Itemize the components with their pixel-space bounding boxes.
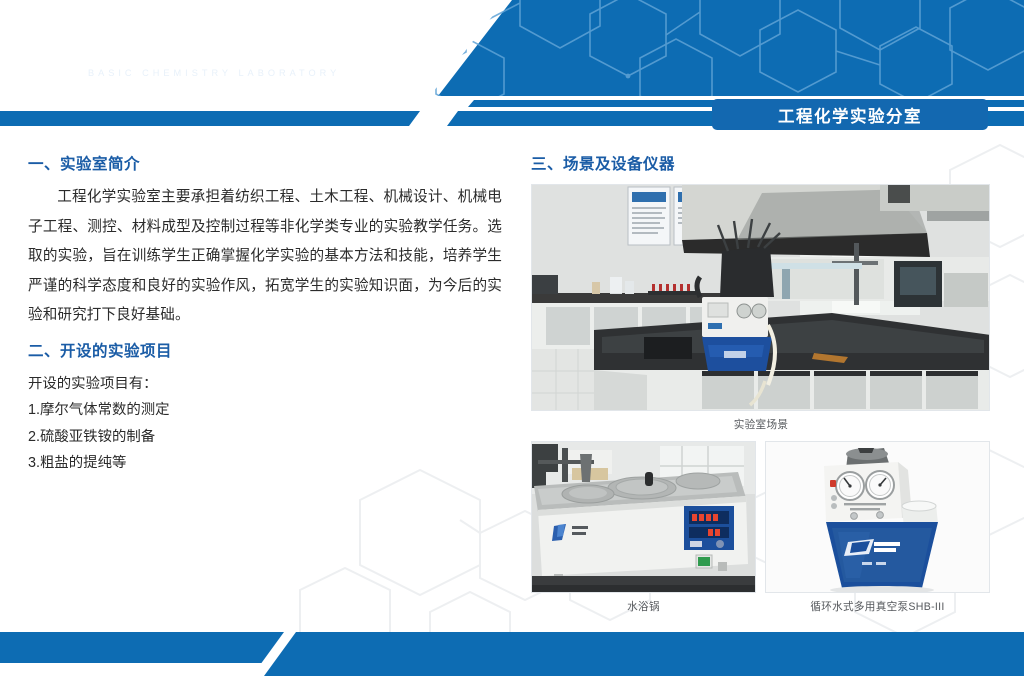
vacuum-pump-photo[interactable]: [765, 441, 990, 593]
photo-block-lab-scene: 实验室场景: [531, 184, 991, 432]
laboratory-scene-photo[interactable]: [531, 184, 990, 411]
page-subtitle: BASIC CHEMISTRY LABORATORY: [88, 68, 361, 78]
page-title: 基础化学实验室: [88, 22, 361, 67]
photo-block-vacuum-pump: 循环水式多用真空泵SHB-III: [765, 441, 990, 614]
section-heading-intro: 一、实验室简介: [28, 152, 502, 174]
projects-intro-text: 开设的实验项目有：: [28, 371, 502, 398]
project-list-item: 3.粗盐的提纯等: [28, 450, 502, 477]
sub-lab-badge-label: 工程化学实验分室: [778, 103, 922, 127]
right-content-column: 三、场景及设备仪器: [531, 152, 991, 614]
section-heading-projects: 二、开设的实验项目: [28, 339, 502, 361]
project-list-item: 2.硫酸亚铁铵的制备: [28, 424, 502, 451]
poster-page: 基础化学实验室 BASIC CHEMISTRY LABORATORY 工程化学实…: [0, 0, 1024, 676]
sub-lab-badge[interactable]: 工程化学实验分室: [712, 99, 988, 130]
water-bath-photo[interactable]: [531, 441, 756, 593]
photo-block-water-bath: 水浴锅: [531, 441, 756, 614]
photo-caption-water-bath: 水浴锅: [531, 599, 756, 614]
header-title-block: 基础化学实验室 BASIC CHEMISTRY LABORATORY: [88, 22, 361, 78]
section-heading-scenes: 三、场景及设备仪器: [531, 152, 991, 174]
photo-row: 水浴锅: [531, 441, 991, 614]
photo-caption-lab-scene: 实验室场景: [531, 417, 991, 432]
page-footer: [0, 620, 1024, 676]
photo-caption-vacuum-pump: 循环水式多用真空泵SHB-III: [765, 599, 990, 614]
footer-banner-graphic: [0, 620, 1024, 676]
lab-intro-paragraph: 工程化学实验室主要承担着纺织工程、土木工程、机械设计、机械电子工程、测控、材料成…: [28, 183, 502, 331]
left-content-column: 一、实验室简介 工程化学实验室主要承担着纺织工程、土木工程、机械设计、机械电子工…: [28, 152, 502, 477]
project-list-item: 1.摩尔气体常数的测定: [28, 397, 502, 424]
